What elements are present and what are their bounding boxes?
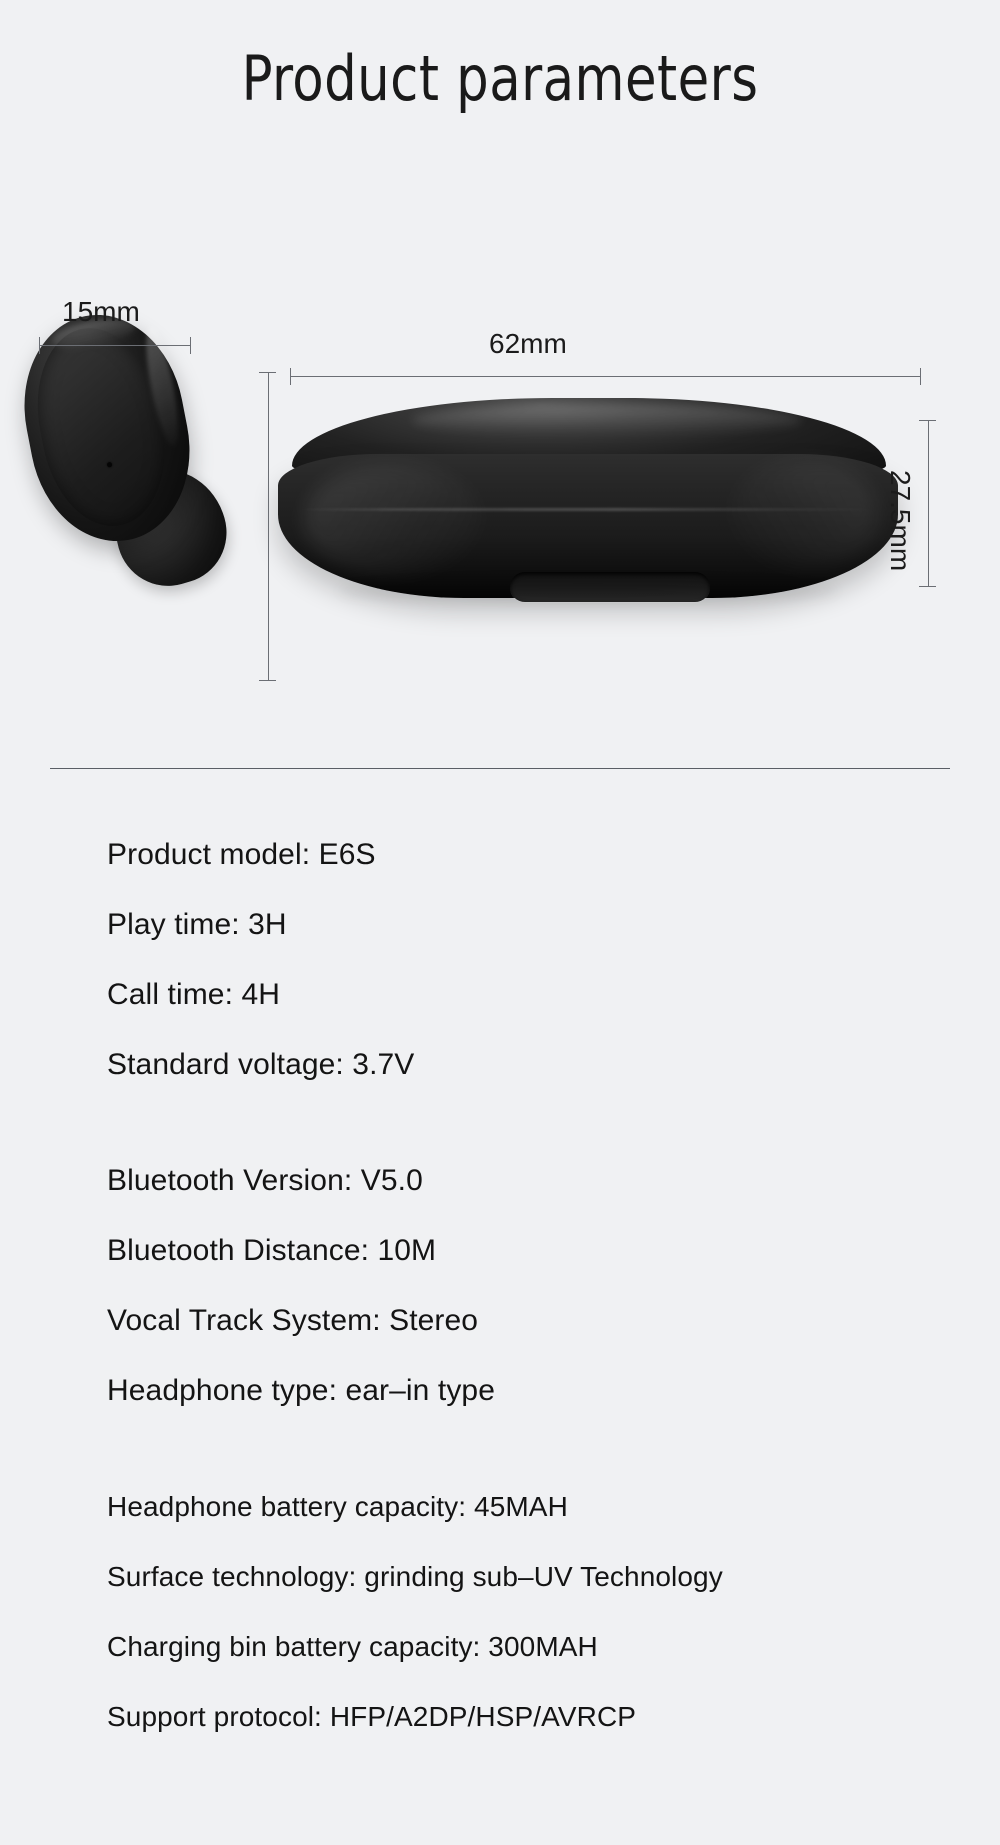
dimension-line-case-height	[928, 420, 929, 586]
dimension-tick-earbud-height-top	[259, 372, 276, 373]
dimension-line-earbud-height	[268, 372, 269, 680]
charging-case-shadow	[338, 580, 838, 602]
spec-item: Bluetooth Distance: 10M	[107, 1216, 927, 1286]
dimension-tick-case-height-top	[919, 420, 936, 421]
dimension-tick-earbud-width-right	[190, 337, 191, 354]
dimension-tick-case-width-right	[920, 368, 921, 385]
spec-group-battery-and-build: Headphone battery capacity: 45MAH Surfac…	[107, 1472, 927, 1752]
dimension-line-case-width	[290, 376, 920, 377]
spec-group-general: Product model: E6S Play time: 3H Call ti…	[107, 820, 927, 1100]
dimension-tick-case-height-bottom	[919, 586, 936, 587]
spec-item: Surface technology: grinding sub–UV Tech…	[107, 1542, 927, 1612]
spec-item: Standard voltage: 3.7V	[107, 1030, 927, 1100]
spec-item: Charging bin battery capacity: 300MAH	[107, 1612, 927, 1682]
dimension-tick-earbud-height-bottom	[259, 680, 276, 681]
dimension-tick-earbud-width-left	[39, 337, 40, 354]
charging-case	[278, 398, 898, 598]
charging-case-lid-highlight	[412, 404, 802, 436]
dimension-label-case-width: 62mm	[489, 328, 567, 360]
spec-item: Product model: E6S	[107, 820, 927, 890]
spec-group-connectivity: Bluetooth Version: V5.0 Bluetooth Distan…	[107, 1146, 927, 1426]
spec-item: Play time: 3H	[107, 890, 927, 960]
product-illustration: 15mm 62mm 27.5mm	[0, 0, 1000, 720]
dimension-label-earbud-width: 15mm	[62, 296, 140, 328]
dimension-tick-case-width-left	[290, 368, 291, 385]
spec-item: Call time: 4H	[107, 960, 927, 1030]
specification-list: Product model: E6S Play time: 3H Call ti…	[107, 820, 927, 1752]
charging-case-right-highlight	[728, 460, 878, 570]
section-divider	[50, 768, 950, 769]
spec-item: Bluetooth Version: V5.0	[107, 1146, 927, 1216]
spec-item: Headphone battery capacity: 45MAH	[107, 1472, 927, 1542]
charging-case-left-highlight	[304, 464, 484, 576]
spec-item: Support protocol: HFP/A2DP/HSP/AVRCP	[107, 1682, 927, 1752]
charging-case-seam	[288, 508, 888, 511]
dimension-line-earbud-width	[39, 345, 190, 346]
spec-item: Vocal Track System: Stereo	[107, 1286, 927, 1356]
charging-case-body	[278, 454, 898, 598]
spec-item: Headphone type: ear–in type	[107, 1356, 927, 1426]
dimension-label-case-height: 27.5mm	[884, 470, 916, 571]
